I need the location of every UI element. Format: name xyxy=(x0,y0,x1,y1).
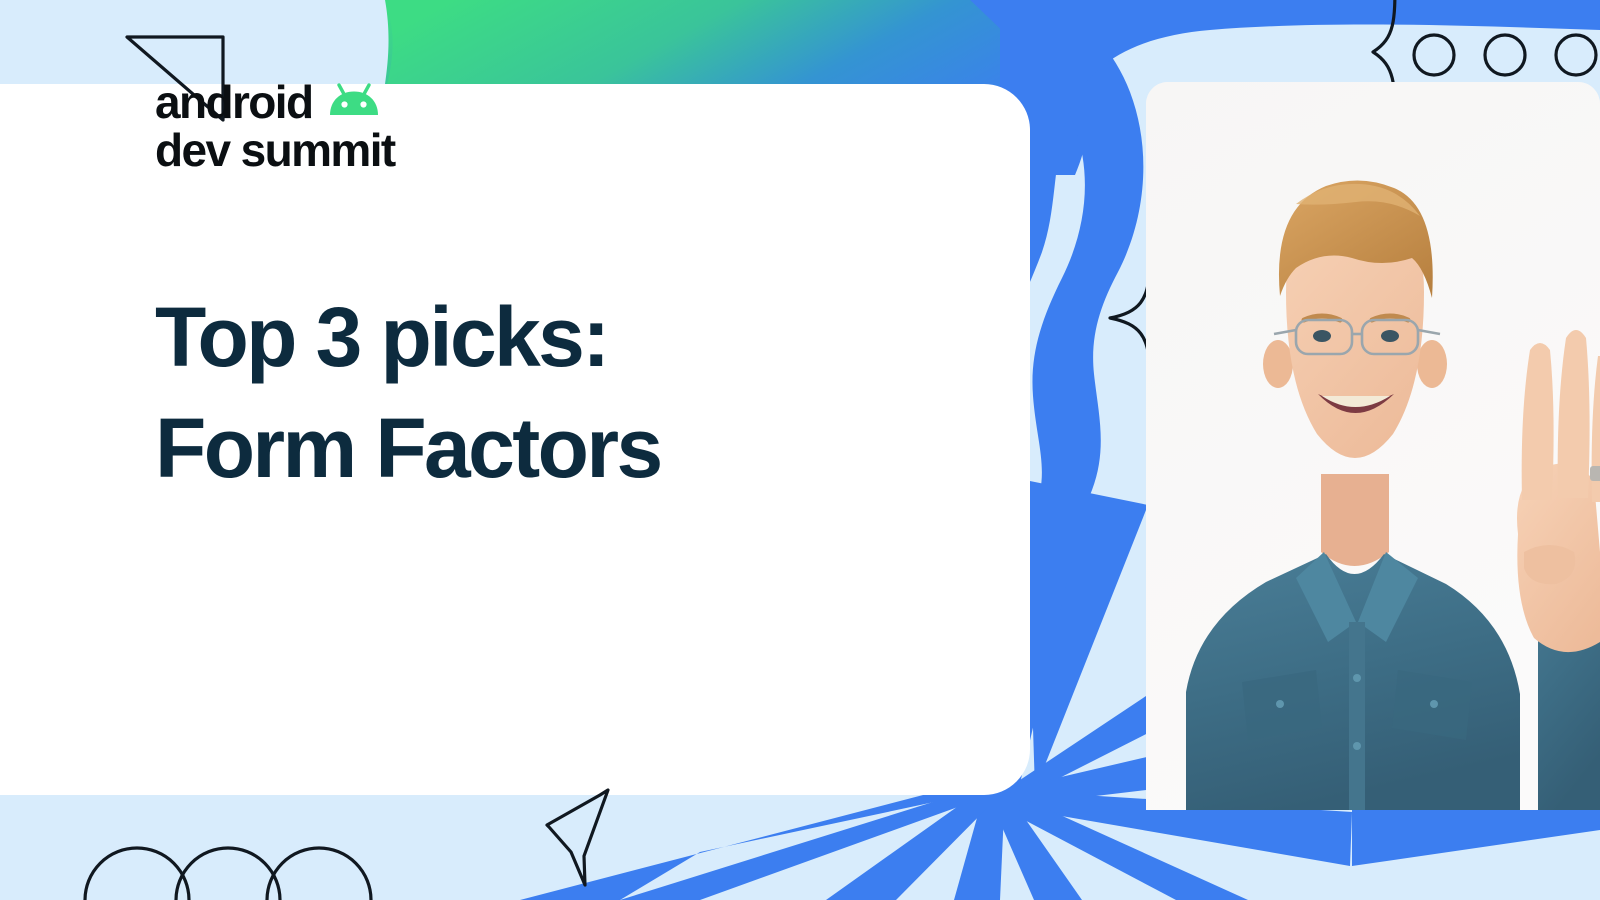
headline-line-2: Form Factors xyxy=(155,393,795,504)
android-robot-icon xyxy=(326,82,382,122)
headline-line-1: Top 3 picks: xyxy=(155,282,795,393)
logo-word-android: android xyxy=(155,78,312,126)
logo-word-dev-summit: dev summit xyxy=(155,126,395,174)
event-logo: android dev summit xyxy=(155,78,395,175)
presenter-photo xyxy=(1146,82,1600,810)
logo-line-2: dev summit xyxy=(155,126,395,174)
slide-canvas: android dev summit Top 3 picks: Form Fac… xyxy=(0,0,1600,900)
page-title: Top 3 picks: Form Factors xyxy=(155,282,795,504)
logo-line-1: android xyxy=(155,78,395,126)
presenter-portrait-illustration xyxy=(1146,82,1600,810)
